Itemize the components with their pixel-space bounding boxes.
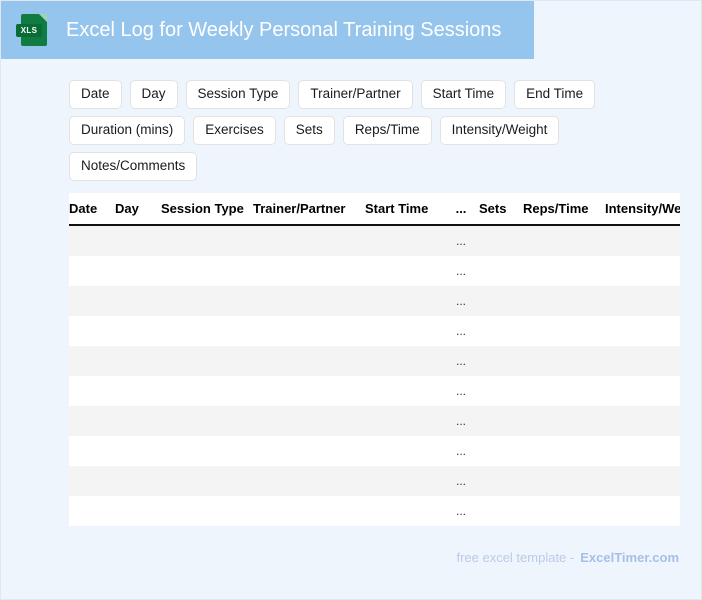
table-cell-trainer [253,316,365,346]
table-cell-session [161,496,253,526]
table-cell-ellipsis: ... [443,436,479,466]
table-cell-date [69,256,115,286]
table-cell-sets [479,346,523,376]
table-cell-ellipsis: ... [443,286,479,316]
column-chip[interactable]: Exercises [193,116,276,145]
table-cell-date [69,316,115,346]
table-cell-intensity [605,466,680,496]
table-cell-ellipsis: ... [443,225,479,256]
table-cell-day [115,346,161,376]
table-cell-trainer [253,466,365,496]
xls-badge-label: XLS [16,24,42,37]
table-cell-sets [479,466,523,496]
column-chip[interactable]: Sets [284,116,335,145]
table-cell-reps [523,496,605,526]
table-cell-date [69,376,115,406]
column-chip[interactable]: End Time [514,80,595,109]
table-cell-session [161,316,253,346]
table-cell-reps [523,316,605,346]
table-cell-day [115,256,161,286]
table-row: ... [69,256,680,286]
table-row: ... [69,406,680,436]
footer-text: free excel template - [456,550,574,565]
table-cell-session [161,346,253,376]
table-row: ... [69,376,680,406]
table-cell-day [115,406,161,436]
table-cell-start [365,466,443,496]
table-row: ... [69,346,680,376]
table-cell-day [115,376,161,406]
table-cell-start [365,496,443,526]
table-cell-ellipsis: ... [443,376,479,406]
table-cell-start [365,316,443,346]
columns-preview-table: DateDaySession TypeTrainer/PartnerStart … [69,193,680,526]
table-cell-intensity [605,286,680,316]
table-body: .............................. [69,225,680,526]
column-header-intensity: Intensity/Weight [605,193,680,225]
table-cell-start [365,225,443,256]
table-cell-session [161,466,253,496]
table-cell-reps [523,225,605,256]
table-cell-day [115,436,161,466]
table-cell-intensity [605,346,680,376]
column-header-reps: Reps/Time [523,193,605,225]
column-chip[interactable]: Day [130,80,178,109]
column-header-date: Date [69,193,115,225]
table-cell-day [115,286,161,316]
column-chip[interactable]: Trainer/Partner [298,80,412,109]
table-cell-start [365,256,443,286]
table-cell-ellipsis: ... [443,406,479,436]
page-header-bar: XLS Excel Log for Weekly Personal Traini… [1,1,534,59]
table-cell-ellipsis: ... [443,316,479,346]
table-cell-session [161,286,253,316]
table-cell-trainer [253,496,365,526]
table-cell-sets [479,406,523,436]
table-cell-day [115,316,161,346]
table-cell-intensity [605,225,680,256]
table-row: ... [69,316,680,346]
column-chip[interactable]: Start Time [421,80,507,109]
table-cell-sets [479,316,523,346]
table-cell-start [365,286,443,316]
template-page: XLS Excel Log for Weekly Personal Traini… [0,0,702,600]
column-header-trainer: Trainer/Partner [253,193,365,225]
table-cell-session [161,436,253,466]
column-chip[interactable]: Intensity/Weight [440,116,560,145]
table-row: ... [69,466,680,496]
table-header: DateDaySession TypeTrainer/PartnerStart … [69,193,680,225]
table-cell-reps [523,406,605,436]
column-header-start: Start Time [365,193,443,225]
column-chip[interactable]: Duration (mins) [69,116,185,145]
table-cell-start [365,376,443,406]
table-cell-session [161,406,253,436]
table-cell-reps [523,286,605,316]
table-cell-ellipsis: ... [443,466,479,496]
table-cell-trainer [253,286,365,316]
excel-file-icon: XLS [21,14,47,46]
footer-credit: free excel template -ExcelTimer.com [456,550,679,566]
table-cell-start [365,436,443,466]
column-header-day: Day [115,193,161,225]
column-header-ellipsis: ... [443,193,479,225]
table-cell-reps [523,466,605,496]
table-cell-trainer [253,436,365,466]
column-chip[interactable]: Reps/Time [343,116,432,145]
table-cell-sets [479,225,523,256]
table-header-row: DateDaySession TypeTrainer/PartnerStart … [69,193,680,225]
table-cell-day [115,225,161,256]
table-cell-intensity [605,496,680,526]
table-cell-ellipsis: ... [443,346,479,376]
table-cell-date [69,406,115,436]
column-header-sets: Sets [479,193,523,225]
table-cell-date [69,466,115,496]
table-cell-trainer [253,256,365,286]
column-header-session: Session Type [161,193,253,225]
table-cell-session [161,376,253,406]
table-cell-intensity [605,406,680,436]
table-cell-ellipsis: ... [443,256,479,286]
table-cell-trainer [253,346,365,376]
table-cell-sets [479,256,523,286]
page-title: Excel Log for Weekly Personal Training S… [66,18,501,42]
table-cell-start [365,346,443,376]
table-cell-day [115,496,161,526]
table-cell-trainer [253,225,365,256]
table-cell-intensity [605,436,680,466]
table-cell-intensity [605,316,680,346]
table-cell-intensity [605,376,680,406]
table-cell-intensity [605,256,680,286]
table-cell-reps [523,346,605,376]
table-preview-container: DateDaySession TypeTrainer/PartnerStart … [69,193,680,527]
table-cell-sets [479,496,523,526]
table-cell-date [69,346,115,376]
table-cell-sets [479,286,523,316]
table-cell-reps [523,436,605,466]
table-cell-reps [523,376,605,406]
column-chip[interactable]: Session Type [186,80,291,109]
table-row: ... [69,286,680,316]
table-row: ... [69,225,680,256]
column-chip[interactable]: Date [69,80,122,109]
footer-brand-link[interactable]: ExcelTimer.com [580,550,679,565]
table-cell-sets [479,376,523,406]
column-chip-list: DateDaySession TypeTrainer/PartnerStart … [69,80,629,181]
table-cell-date [69,496,115,526]
table-cell-trainer [253,406,365,436]
table-cell-date [69,286,115,316]
column-chip[interactable]: Notes/Comments [69,152,197,181]
table-cell-day [115,466,161,496]
table-cell-sets [479,436,523,466]
table-cell-trainer [253,376,365,406]
table-cell-ellipsis: ... [443,496,479,526]
table-cell-session [161,256,253,286]
table-cell-session [161,225,253,256]
table-cell-date [69,436,115,466]
table-cell-reps [523,256,605,286]
table-row: ... [69,436,680,466]
table-row: ... [69,496,680,526]
table-cell-start [365,406,443,436]
table-cell-date [69,225,115,256]
